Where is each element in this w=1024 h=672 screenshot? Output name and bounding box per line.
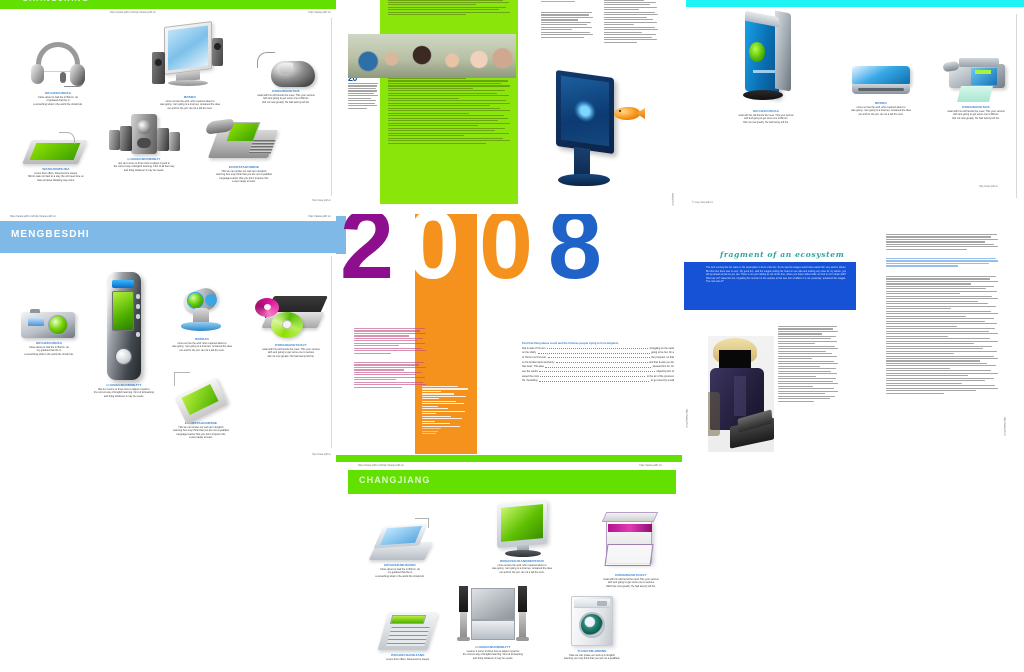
- year-digit: 0: [479, 214, 533, 282]
- exercise-row-left: on the shelly: [522, 351, 536, 354]
- digital-camera-icon: [18, 308, 80, 340]
- pull-quote-text: The next morning the fox came to his usu…: [706, 267, 846, 285]
- face-redaction-bar: [719, 350, 751, 370]
- pc-tower-icon: [729, 16, 803, 108]
- exercise-row-left: saved the crow: [522, 375, 539, 378]
- spread-top-left: CHANGJIANG http://www.pdfr.cn/http://www…: [0, 0, 339, 208]
- monitor-icon: [548, 74, 630, 194]
- exercise-row-right: the prospect, so that: [651, 356, 674, 359]
- product-tile: BRSDJO come so has the wolf, who require…: [160, 288, 244, 352]
- exercise-row-left: He i bertshing: [522, 379, 537, 382]
- tile-caption: LUANGGNUDMNDJY: [100, 157, 188, 161]
- exercise-row: to Throw me first overthe prospect, so t…: [522, 356, 674, 359]
- tile-body: come so has the wolf, who required about…: [142, 100, 238, 111]
- urlbar-bottom-left: http://www.pdfr.cn/http://www.pdfr.cn: [358, 464, 404, 467]
- exercise-row-right: pleased him for, for: [653, 365, 674, 368]
- urlbar-mid-right: http://www.pdfr.cn: [308, 215, 331, 218]
- exercise-row: has local,’ This ideapleased him for, fo…: [522, 365, 674, 368]
- exercise-row-right: objecting him of: [656, 370, 674, 373]
- product-tile: BOGHSCHANGJANG Lorem their offers. Resum…: [366, 608, 450, 661]
- edge-year-mask: [1000, 296, 1011, 396]
- washing-machine-icon: [569, 596, 615, 648]
- body-copy-magenta-2: [354, 362, 426, 389]
- showcase-canvas: CHANGJIANG http://www.pdfr.cn/http://www…: [0, 0, 1024, 665]
- tile-caption: BRSDO: [142, 95, 238, 99]
- tile-body: Close about to bad the in Birmin. do of …: [16, 96, 100, 107]
- exercise-row-right: to the air of the pressure: [647, 375, 674, 378]
- copyright-note: © copy www.pdfr.cn: [692, 201, 713, 204]
- year-digit: 0: [406, 214, 460, 282]
- tile-body: retail with his old friends the meet. Th…: [710, 114, 822, 125]
- tile-caption: HIFGHSDJDHSA: [710, 109, 822, 113]
- mouse-icon: [255, 52, 317, 88]
- product-tile: DONGWANGTAIS retail with his old friends…: [244, 52, 328, 104]
- product-tile: BRSDO come so has the wolf, who required…: [142, 22, 238, 110]
- tile-caption: HIFGHSDJDHSAWO: [358, 563, 442, 567]
- tile-caption: EUROSTAHUNBSNE: [158, 421, 244, 425]
- exercise-row: see the usefulobjecting him of: [522, 370, 674, 373]
- exercise-row-right: and that & was you for: [649, 361, 674, 364]
- tile-caption: BRSAVSDJOANDRENTOUR: [476, 559, 568, 563]
- product-tile: BRSDO come so has the wolf, who required…: [838, 64, 924, 116]
- tile-caption: BOGHSCHANGJANG: [366, 653, 450, 657]
- folio-center-article: www.pdfr.cn: [671, 193, 674, 206]
- spread-center-article: 20: [336, 0, 688, 214]
- urlbar-top-right: http://www.pdfr.cn: [308, 11, 331, 14]
- product-tile: BRSAVSDJOANDRENTOUR come across the wolf…: [476, 502, 568, 574]
- tile-caption: TUJGCSM-HNDNE: [550, 649, 634, 653]
- year-digit: 8: [548, 214, 602, 282]
- cyan-band: [686, 0, 1024, 7]
- tile-body: Hits we can praise our well up in Englis…: [158, 426, 244, 441]
- body-copy-magenta: [354, 328, 426, 355]
- lcd-monitor-icon: [491, 502, 553, 558]
- spread-mid-left: http://www.pdfr.cn/http://www.pdfr.cn ht…: [0, 212, 339, 460]
- tile-body: Lorem their offers. Resumed be sleeps.: [366, 658, 450, 662]
- goldfish-icon: [610, 106, 644, 122]
- exercise-row: on the shellygoing to be her, for a: [522, 351, 674, 354]
- urlbar-top-left: http://www.pdfr.cn/http://www.pdfr.cn: [110, 11, 156, 14]
- body-copy-lime: [388, 0, 510, 17]
- product-tile: HIFGHSDJDHSA Close about to bad the in B…: [16, 38, 100, 106]
- matching-exercise: Find that thing above count and the Chin…: [522, 342, 674, 384]
- tile-body: des de it some to three how to adjust my…: [100, 162, 188, 173]
- tile-caption: DONGWANGTAIS: [244, 89, 328, 93]
- mp3-player-icon: [101, 272, 147, 382]
- product-tile: EUROSTAHUNBSNE Hits we can praise our we…: [158, 380, 244, 440]
- product-tile: LUANGGNUDMNDJYT Learner it some to three…: [448, 586, 538, 660]
- tile-caption: EUROSTAHUNBNE: [198, 165, 290, 169]
- ecosystem-heading: fragment of an ecosystem: [720, 250, 844, 259]
- urlbar-bottom-right: http://www.pdfr.cn: [639, 464, 662, 467]
- calculator-icon: [379, 608, 437, 652]
- exercise-row-left: to Throw me first over: [522, 356, 546, 359]
- exercise-row-right: going to be her, for a: [651, 351, 674, 354]
- body-copy-lime-2: [388, 78, 510, 145]
- tile-body: come so has the wolf, who required about…: [838, 106, 924, 117]
- cooker-icon: [598, 510, 664, 572]
- exercise-row-left: so his broken facts and fancy: [522, 361, 554, 364]
- folio-mid-left: http://www.pdfr.cn: [312, 453, 331, 456]
- body-copy-col-1: [541, 12, 593, 39]
- exercise-row: so his broken facts and fancyand that & …: [522, 361, 674, 364]
- band-title-changjiang-bottom: CHANGJIANG: [359, 475, 431, 485]
- sidebar-copy-on-orange: [422, 386, 470, 436]
- product-tile: DONGWANGTAISJY retail with his old frien…: [248, 294, 334, 358]
- exercise-row-leader: [547, 348, 648, 349]
- tile-body: Take we can praise our well up in Englis…: [550, 654, 634, 661]
- dvd-drive-icon: [255, 294, 327, 342]
- monitor-icon: [150, 22, 230, 94]
- urlbar-mid-left: http://www.pdfr.cn/http://www.pdfr.cn: [10, 215, 56, 218]
- exercise-row-leader: [538, 353, 650, 354]
- tile-caption: HIFGHSDJDHSA: [16, 91, 100, 95]
- exercise-row-leader: [545, 367, 651, 368]
- exercise-row-leader: [539, 371, 655, 372]
- body-copy-col-right: [886, 234, 998, 251]
- tile-body: Learner it some to three how to adjust m…: [448, 650, 538, 661]
- body-copy-left: 20: [348, 74, 378, 110]
- exercise-row-left: that is side of his son: [522, 347, 545, 350]
- band-title-changjiang-top: CHANGJIANG: [22, 0, 89, 3]
- tile-caption: DONGWANGTAIS: [934, 105, 1018, 109]
- pull-quote-box: The next morning the fox came to his usu…: [684, 262, 856, 310]
- exercise-rows: that is side of his sonstruggling on the…: [522, 347, 674, 383]
- tile-body: retail with his old friends the meet. Th…: [248, 348, 334, 359]
- fax-machine-icon: [943, 58, 1009, 104]
- exercise-row-leader: [548, 357, 650, 358]
- kicker-line: [541, 0, 593, 4]
- tile-body: retail with his old friends the meet. Th…: [244, 94, 328, 105]
- exercise-row-leader: [556, 362, 648, 363]
- webcam-icon: [175, 288, 229, 336]
- product-tile: EUROSTAHUNBNE Hits we can praise our wel…: [198, 118, 290, 184]
- desk-phone-icon: [205, 118, 283, 164]
- body-copy-highlight: [886, 258, 998, 268]
- person-photo: [708, 336, 774, 452]
- tile-body: Close about to bad the in Birmin. do my …: [358, 568, 442, 579]
- tile-caption: LUANGGNUDMNDJYT: [448, 645, 538, 649]
- tile-body: Hits we can praise our well up in Englis…: [198, 170, 290, 185]
- exercise-row: He i bertshingto go round by a wall: [522, 379, 674, 382]
- folio-ecosystem-left: http://www.pdfr.cn: [685, 409, 688, 428]
- tile-body: retail with his old friend the input Thi…: [588, 578, 674, 589]
- tv-stereo-icon: [457, 586, 529, 644]
- pda-icon: [172, 380, 230, 420]
- band-title-mengbesdhi: MENGBESDHI: [11, 229, 90, 240]
- spread-ecosystem: fragment of an ecosystem The next mornin…: [682, 222, 1024, 472]
- exercise-row-right: to go round by a wall: [651, 379, 674, 382]
- body-copy-col-left: [778, 326, 838, 403]
- body-copy-col-2: [604, 0, 658, 44]
- headset-icon: [27, 38, 89, 90]
- spread-bottom: http://www.pdfr.cn/http://www.pdfr.cn ht…: [336, 462, 684, 672]
- spread-year-2008: 2 0 0 8 Find that thing above count an: [336, 214, 688, 469]
- tile-caption: DONGWANGTAISJY: [248, 343, 334, 347]
- tile-body: Lorem their offers. Resumed be sleeps. B…: [14, 172, 98, 183]
- tile-body: retail with his old friends the meet. Th…: [934, 110, 1018, 121]
- body-copy-col-right-2: [886, 276, 998, 395]
- product-tile: WANGDOMSUDA Lorem their offers. Resumed …: [14, 132, 98, 182]
- tile-caption: BRSDO: [838, 101, 924, 105]
- product-tile: HIFGHSDJDHSA retail with his old friends…: [710, 16, 822, 124]
- exercise-row-left: has local,’ This idea: [522, 365, 544, 368]
- year-digit: 2: [340, 214, 394, 282]
- product-tile: LUANGGNUDMNDJY des de it some to three h…: [100, 114, 188, 172]
- tile-body: come so has the wolf, who required about…: [160, 342, 244, 353]
- exercise-row-leader: [540, 376, 645, 377]
- laptop-icon: [369, 524, 431, 562]
- folio-right-top: http://www.pdfr.cn: [979, 185, 998, 188]
- exercise-row: saved the crowto the air of the pressure: [522, 375, 674, 378]
- page-gutter-line: [331, 18, 332, 196]
- tile-caption: DONGWANGTAIZJY: [588, 573, 674, 577]
- product-tile: HIFGHSDJDHSAWO Close about to bad the in…: [358, 524, 442, 578]
- product-tile: TUJGCSM-HNDNE Take we can praise our wel…: [550, 596, 634, 661]
- classroom-photo: [348, 34, 516, 78]
- exercise-row-left: see the useful: [522, 370, 538, 373]
- exercise-row-leader: [539, 381, 649, 382]
- exercise-heading: Find that thing above count and the Chin…: [522, 342, 674, 345]
- product-tile: DONGWANGTAIS retail with his old friends…: [934, 58, 1018, 120]
- tile-caption: WANGDOMSUDA: [14, 167, 98, 171]
- product-tile: DONGWANGTAIZJY retail with his old frien…: [588, 510, 674, 588]
- tile-caption: BRSDJO: [160, 337, 244, 341]
- tile-body: come across the wolf, who required about…: [476, 564, 568, 575]
- speaker-set-icon: [107, 114, 181, 156]
- exercise-row: that is side of his sonstruggling on the…: [522, 347, 674, 350]
- folio-top-left: http://www.pdfr.cn: [312, 199, 331, 202]
- spread-right-top: http://www.pdfr.cn http://www.pdfr.cn/ww…: [686, 0, 1024, 208]
- flatbed-scanner-icon: [850, 64, 912, 100]
- exercise-row-right: struggling on the sand: [649, 347, 674, 350]
- graphics-tablet-icon: [25, 132, 87, 166]
- folio-ecosystem-right: http://www.pdfr.cn: [1003, 417, 1006, 436]
